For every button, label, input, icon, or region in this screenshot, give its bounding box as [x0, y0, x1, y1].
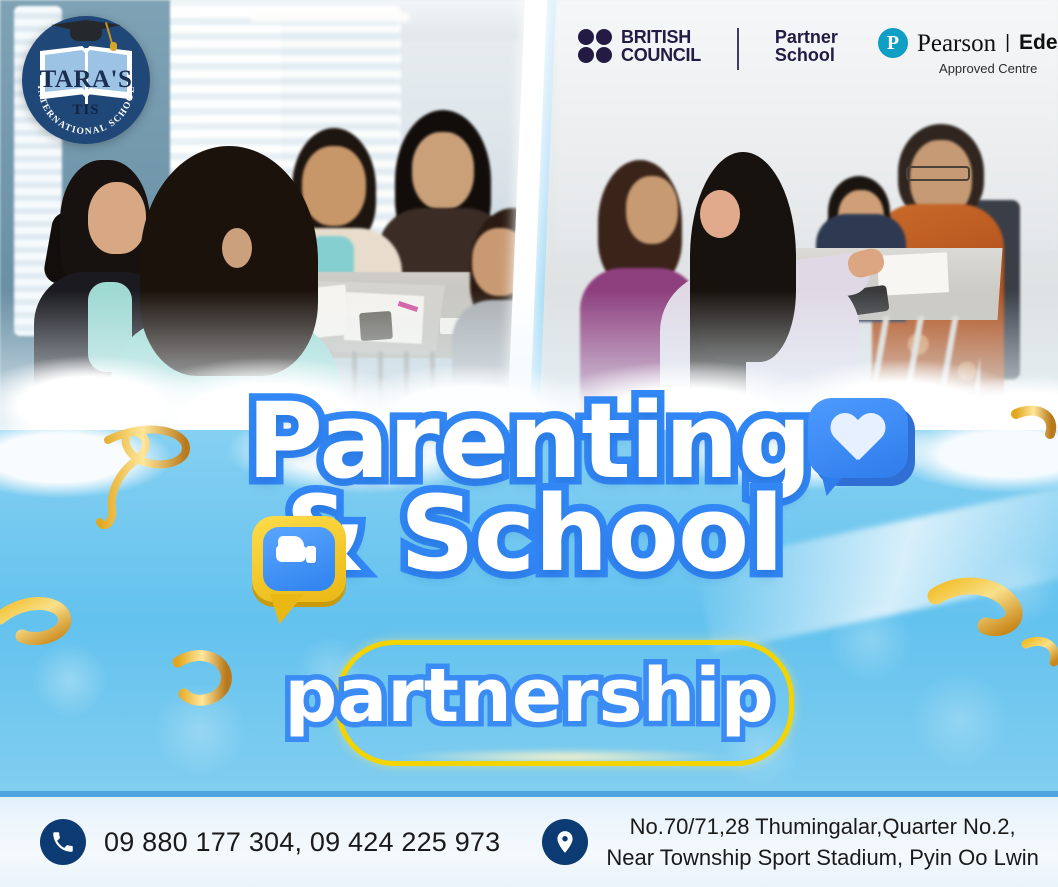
phone-number: 09 880 177 304, 09 424 225 973 [104, 827, 500, 858]
graduation-cap-icon [48, 12, 124, 38]
phone-icon [40, 819, 86, 865]
school-logo: INTERNATIONAL SCHOOL TARA'S TIS [22, 16, 150, 144]
contact-bar: 09 880 177 304, 09 424 225 973 No.70/71,… [0, 791, 1058, 887]
pearson-edexcel-logo: P Pearson | Edexcel Approved Centre [878, 28, 1058, 76]
address-contact[interactable]: No.70/71,28 Thumingalar,Quarter No.2, Ne… [542, 811, 1038, 873]
partner-line1: Partner [775, 28, 838, 46]
address-text: No.70/71,28 Thumingalar,Quarter No.2, Ne… [606, 811, 1038, 873]
logo-divider [737, 28, 739, 70]
logo-abbreviation: TIS [22, 102, 150, 119]
partner-line2: School [775, 46, 838, 64]
bc-line1: BRITISH [621, 28, 701, 46]
logo-school-name: TARA'S [22, 66, 150, 94]
phone-contact[interactable]: 09 880 177 304, 09 424 225 973 [40, 819, 500, 865]
address-line-2: Near Township Sport Stadium, Pyin Oo Lwi… [606, 842, 1038, 873]
partnership-label: partnership [0, 653, 1058, 739]
pearson-divider: | [1005, 32, 1010, 54]
british-council-dots-icon [578, 29, 612, 63]
british-council-text: BRITISH COUNCIL [621, 28, 701, 64]
heart-icon [830, 414, 886, 464]
pearson-p-icon: P [878, 28, 908, 58]
pearson-wordmark: Pearson [917, 31, 996, 56]
edexcel-wordmark: Edexcel [1019, 31, 1058, 55]
heart-reaction-bubble-icon [808, 398, 920, 504]
partner-school-text: Partner School [775, 28, 838, 64]
location-pin-icon [542, 819, 588, 865]
accreditation-logos: BRITISH COUNCIL Partner School P Pearson… [578, 28, 1058, 76]
approved-centre-label: Approved Centre [939, 61, 1037, 76]
thumbs-up-reaction-bubble-icon [252, 516, 352, 632]
address-line-1: No.70/71,28 Thumingalar,Quarter No.2, [606, 811, 1038, 842]
bc-line2: COUNCIL [621, 46, 701, 64]
pearson-mark-letter: P [878, 28, 908, 58]
british-council-logo: BRITISH COUNCIL [578, 28, 701, 64]
poster-canvas: INTERNATIONAL SCHOOL TARA'S TIS BRITISH … [0, 0, 1058, 887]
